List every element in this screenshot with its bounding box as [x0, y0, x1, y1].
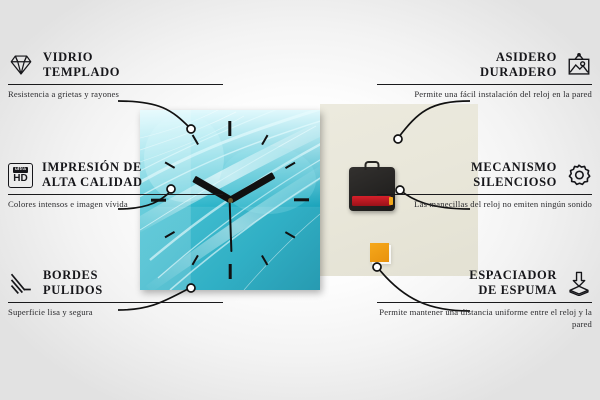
feature-title-line: ASIDERO [480, 50, 557, 65]
feature-description: Resistencia a grietas y rayones [8, 85, 223, 101]
feature-title-line: PULIDOS [43, 283, 103, 298]
ultra-hd-badge-icon: ultra HD [8, 163, 33, 188]
foam-spacer-part [370, 243, 389, 262]
polished-edges-icon [8, 270, 34, 296]
clock-tick [229, 264, 232, 279]
feature-title-line: IMPRESIÓN DE [42, 160, 143, 175]
gear-icon [566, 162, 592, 188]
feature-description: Superficie lisa y segura [8, 303, 223, 319]
badge-main-text: HD [13, 174, 27, 184]
feature-title-line: DURADERO [480, 65, 557, 80]
feature-vidrio-templado: VIDRIO TEMPLADO Resistencia a grietas y … [8, 50, 223, 101]
infographic-canvas: VIDRIO TEMPLADO Resistencia a grietas y … [0, 0, 600, 400]
feature-description: Permite una fácil instalación del reloj … [377, 85, 592, 101]
feature-title-line: BORDES [43, 268, 103, 283]
feature-title-line: VIDRIO [43, 50, 120, 65]
clock-tick [229, 121, 232, 136]
diamond-icon [8, 52, 34, 78]
feature-description: Permite mantener una distancia uniforme … [377, 303, 592, 331]
feature-title-line: ALTA CALIDAD [42, 175, 143, 190]
clock-tick [294, 199, 309, 202]
feature-impresion-alta-calidad: ultra HD IMPRESIÓN DE ALTA CALIDAD Color… [8, 160, 223, 211]
feature-title-line: ESPACIADOR [469, 268, 557, 283]
badge-top-text: ultra [13, 167, 28, 173]
feature-title-line: TEMPLADO [43, 65, 120, 80]
press-down-layers-icon [566, 270, 592, 296]
feature-description: Colores intensos e imagen vívida [8, 195, 223, 211]
clock-center-cap [228, 198, 233, 203]
feature-description: Las manecillas del reloj no emiten ningú… [377, 195, 592, 211]
feature-asidero-duradero: ASIDERO DURADERO Permite una fácil insta… [377, 50, 592, 101]
feature-title-line: MECANISMO [471, 160, 557, 175]
feature-mecanismo-silencioso: MECANISMO SILENCIOSO Las manecillas del … [377, 160, 592, 211]
feature-bordes-pulidos: BORDES PULIDOS Superficie lisa y segura [8, 268, 223, 319]
feature-title-line: DE ESPUMA [469, 283, 557, 298]
feature-espaciador-de-espuma: ESPACIADOR DE ESPUMA Permite mantener un… [377, 268, 592, 331]
feature-title-line: SILENCIOSO [471, 175, 557, 190]
picture-frame-icon [566, 52, 592, 78]
